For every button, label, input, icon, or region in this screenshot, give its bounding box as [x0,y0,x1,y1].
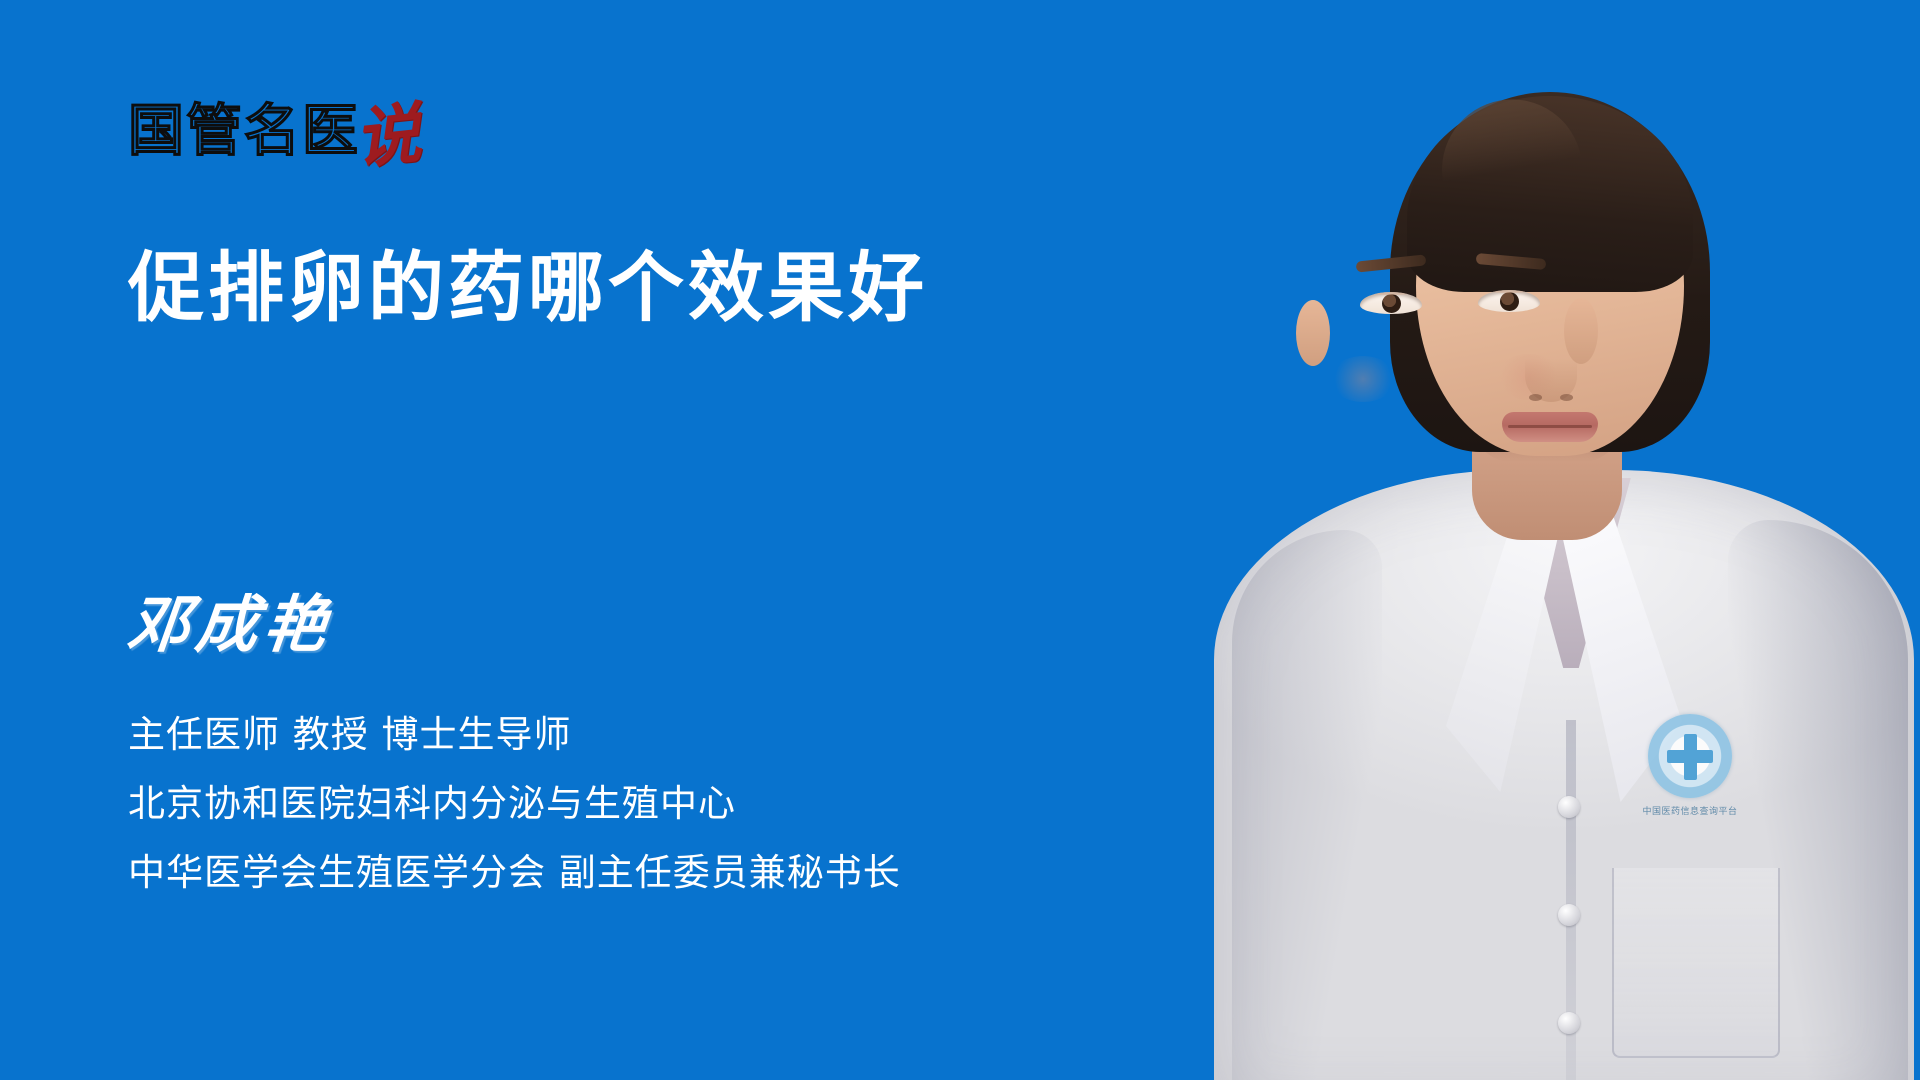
hair-back [1390,92,1710,452]
brand-logo-accent-text: 说 [351,100,424,173]
brand-logo: 国管名医 说 [128,96,420,168]
doctor-portrait: 中国医药信息查询平台 [1180,0,1920,1080]
hair-top [1407,96,1693,292]
coat-placket [1566,720,1576,1080]
mouth [1502,412,1598,442]
coat-lapel-right [1554,492,1682,802]
page-title: 促排卵的药哪个效果好 [128,244,1128,331]
iris-left [1382,294,1401,313]
coat-lapel-left [1446,492,1564,792]
medical-cross-emblem-icon [1648,714,1732,798]
credential-line: 北京协和医院妇科内分泌与生殖中心 [128,785,1178,822]
cheek-right [1496,354,1562,400]
lab-coat: 中国医药信息查询平台 [1214,470,1914,1080]
chest-badge-caption: 中国医药信息查询平台 [1640,804,1740,817]
credential-line: 中华医学会生殖医学分会 副主任委员兼秘书长 [128,854,1178,891]
cross-horizontal-bar [1667,750,1713,763]
ear-left [1296,300,1330,366]
inner-shirt [1506,478,1636,668]
nostril-right [1560,394,1573,401]
eye-right [1478,290,1540,312]
eyelid-right [1478,290,1540,293]
coat-shadow-left [1232,530,1382,1080]
face [1416,126,1684,456]
eyebrow-right [1476,253,1547,270]
brand-logo-main-text: 国管名医 [128,104,360,160]
coat-pocket [1612,868,1780,1058]
doctor-name: 邓成艳 [125,594,336,656]
coat-button [1558,796,1580,818]
hair-parting [1431,88,1581,181]
lip-line [1508,425,1592,428]
coat-button [1558,904,1580,926]
coat-button [1558,1012,1580,1034]
credential-line: 主任医师 教授 博士生导师 [128,716,1178,753]
eyebrow-left [1356,254,1427,272]
eye-left [1360,292,1422,314]
coat-shadow-right [1728,520,1908,1080]
doctor-credentials: 主任医师 教授 博士生导师 北京协和医院妇科内分泌与生殖中心 中华医学会生殖医学… [128,716,1178,891]
nostril-left [1529,394,1542,401]
iris-right [1500,292,1519,311]
cross-vertical-bar [1684,734,1697,780]
neck [1472,400,1622,540]
nose [1525,330,1577,402]
chest-badge: 中国医药信息查询平台 [1640,714,1740,836]
cheek-left [1330,356,1396,402]
eyelid-left [1360,292,1422,295]
video-intro-card: 国管名医 说 促排卵的药哪个效果好 邓成艳 主任医师 教授 博士生导师 北京协和… [0,0,1920,1080]
ear-right [1564,298,1598,364]
neck-shadow [1472,400,1622,462]
